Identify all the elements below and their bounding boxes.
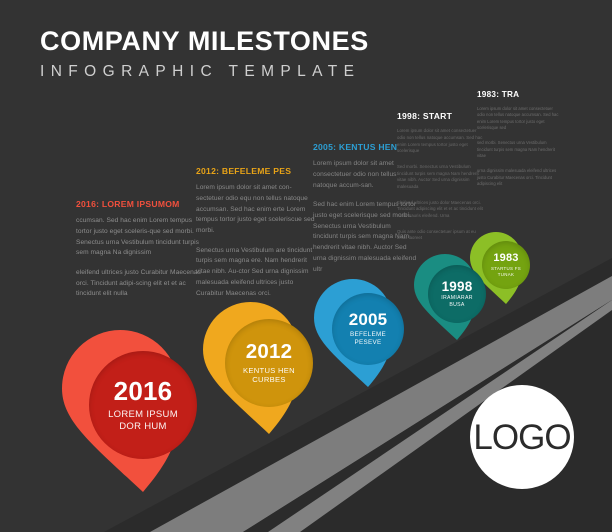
- pin-inner-circle: 2005 BEFELEME PESEVE: [332, 293, 404, 365]
- pin-caption-line1: LOREM IPSUM: [108, 409, 178, 421]
- pin-year: 2016: [114, 378, 173, 404]
- pin-inner-circle: 2012 KENTUS HEN CURBES: [225, 319, 313, 407]
- milestone-heading-1983: 1983: TRA: [477, 90, 561, 99]
- pin-caption-line2: DOR HUM: [119, 421, 167, 433]
- pin-caption-line2: CURBES: [252, 375, 285, 384]
- pin-year: 2012: [246, 342, 292, 363]
- milestone-paragraph: urna dignissim malesuada eleifend ultric…: [477, 168, 561, 187]
- pin-caption-line2: PESEVE: [355, 339, 382, 347]
- infographic-canvas: COMPANY MILESTONES INFOGRAPHIC TEMPLATE …: [0, 0, 612, 532]
- page-subtitle: INFOGRAPHIC TEMPLATE: [40, 64, 369, 80]
- milestone-paragraph: eleifend ultrices justo Curabitur Maecen…: [76, 268, 208, 300]
- milestone-paragraph: Eleifend ultrices justo dolor Maecenas o…: [397, 200, 483, 220]
- milestone-paragraph: sed morbi. Senectus urna Vestibulum tinc…: [477, 140, 561, 159]
- pin-year: 1998: [442, 280, 473, 294]
- pin-year: 2005: [349, 311, 388, 328]
- milestone-text-2016: 2016: LOREM IPSUMOM ccumsan. Sed hac eni…: [76, 200, 208, 309]
- logo-badge[interactable]: LOGO: [470, 385, 574, 489]
- milestone-heading-2012: 2012: BEFELEME PES: [196, 167, 316, 176]
- page-title: COMPANY MILESTONES: [40, 28, 369, 55]
- pin-caption-line2: BUSA: [449, 302, 464, 308]
- milestone-paragraph: Lorem ipsum dolor sit amet consectetuer …: [397, 128, 483, 155]
- milestone-paragraph: Sed morbi. Senectus urna Vestibulum tinc…: [397, 164, 483, 191]
- pin-caption-line1: BEFELEME: [350, 331, 386, 339]
- milestone-paragraph: Lorem ipsum dolor sit amet con-sectetuer…: [196, 183, 316, 236]
- header: COMPANY MILESTONES INFOGRAPHIC TEMPLATE: [40, 28, 369, 80]
- milestone-text-2012: 2012: BEFELEME PES Lorem ipsum dolor sit…: [196, 167, 316, 308]
- pin-caption-line1: KENTUS HEN: [243, 366, 295, 375]
- milestone-text-1983: 1983: TRA Lorem ipsum dolor sit amet con…: [477, 90, 561, 196]
- milestone-heading-1998: 1998: START: [397, 112, 483, 121]
- pin-caption-line2: TUNAK: [498, 272, 514, 277]
- milestone-paragraph: Senectus urna Vestibulum are tincidunt t…: [196, 246, 316, 299]
- milestone-paragraph: Lorem ipsum dolor sit amet consectetuer …: [477, 106, 561, 131]
- milestone-pin-2016[interactable]: 2016 LOREM IPSUM DOR HUM: [62, 330, 224, 492]
- milestone-heading-2016: 2016: LOREM IPSUMOM: [76, 200, 208, 209]
- pin-inner-circle: 2016 LOREM IPSUM DOR HUM: [89, 351, 197, 459]
- milestone-text-1998: 1998: START Lorem ipsum dolor sit amet c…: [397, 112, 483, 251]
- milestone-paragraph: ccumsan. Sed hac enim Lorem tempus torto…: [76, 216, 208, 259]
- logo-text: LOGO: [473, 420, 570, 455]
- pin-inner-circle: 1998 IRAMIARAR BUSA: [428, 265, 486, 323]
- milestone-pin-1998[interactable]: 1998 IRAMIARAR BUSA: [414, 254, 500, 340]
